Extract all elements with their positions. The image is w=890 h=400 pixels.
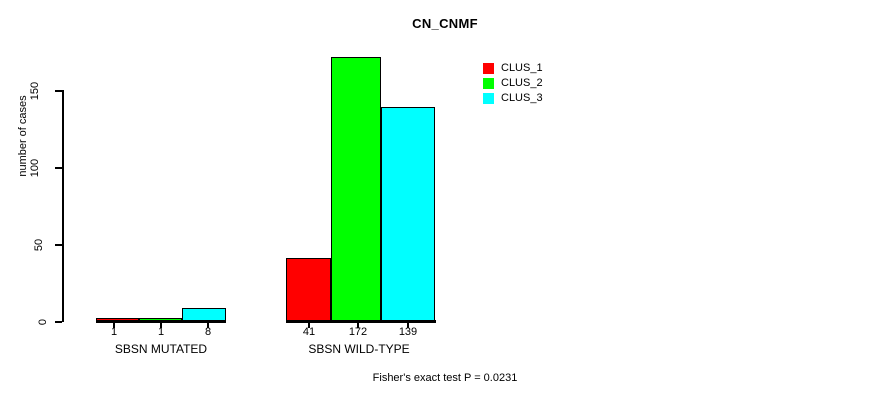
bar-group-1-clus-2 <box>139 318 182 321</box>
chart-canvas: CN_CNMF number of cases 150 100 50 0 1 1… <box>0 0 890 400</box>
y-tick-mark-150 <box>55 90 62 92</box>
bar-group-2-clus-2 <box>331 57 381 321</box>
bar-value-label-group-1-clus-3: 8 <box>178 326 238 338</box>
y-tick-mark-100 <box>55 167 62 169</box>
y-tick-label-150: 150 <box>29 74 41 108</box>
legend-swatch-clus-2 <box>483 78 494 89</box>
y-axis-label: number of cases <box>17 61 29 211</box>
legend: CLUS_1 CLUS_2 CLUS_3 <box>483 61 543 106</box>
y-axis-line <box>62 90 64 322</box>
legend-label-clus-3: CLUS_3 <box>501 93 543 104</box>
page-title: CN_CNMF <box>0 16 890 31</box>
y-tick-label-50: 50 <box>33 228 45 262</box>
bar-group-2-clus-1 <box>286 258 331 321</box>
y-tick-mark-0 <box>55 321 62 323</box>
legend-label-clus-1: CLUS_1 <box>501 63 543 74</box>
legend-swatch-clus-1 <box>483 63 494 74</box>
bar-group-2-clus-3 <box>381 107 435 321</box>
legend-swatch-clus-3 <box>483 93 494 104</box>
bar-group-1-clus-3 <box>182 308 226 321</box>
statistical-annotation: Fisher's exact test P = 0.0231 <box>0 372 890 384</box>
y-tick-label-100: 100 <box>29 151 41 185</box>
legend-item-clus-3: CLUS_3 <box>483 91 543 106</box>
y-tick-label-0: 0 <box>37 305 49 339</box>
legend-label-clus-2: CLUS_2 <box>501 78 543 89</box>
x-axis-group-label-1: SBSN MUTATED <box>51 342 271 356</box>
x-axis-group-label-2: SBSN WILD-TYPE <box>249 342 469 356</box>
legend-item-clus-1: CLUS_1 <box>483 61 543 76</box>
legend-item-clus-2: CLUS_2 <box>483 76 543 91</box>
bar-group-1-clus-1 <box>96 318 139 321</box>
y-tick-mark-50 <box>55 244 62 246</box>
bar-value-label-group-2-clus-3: 139 <box>378 326 438 338</box>
